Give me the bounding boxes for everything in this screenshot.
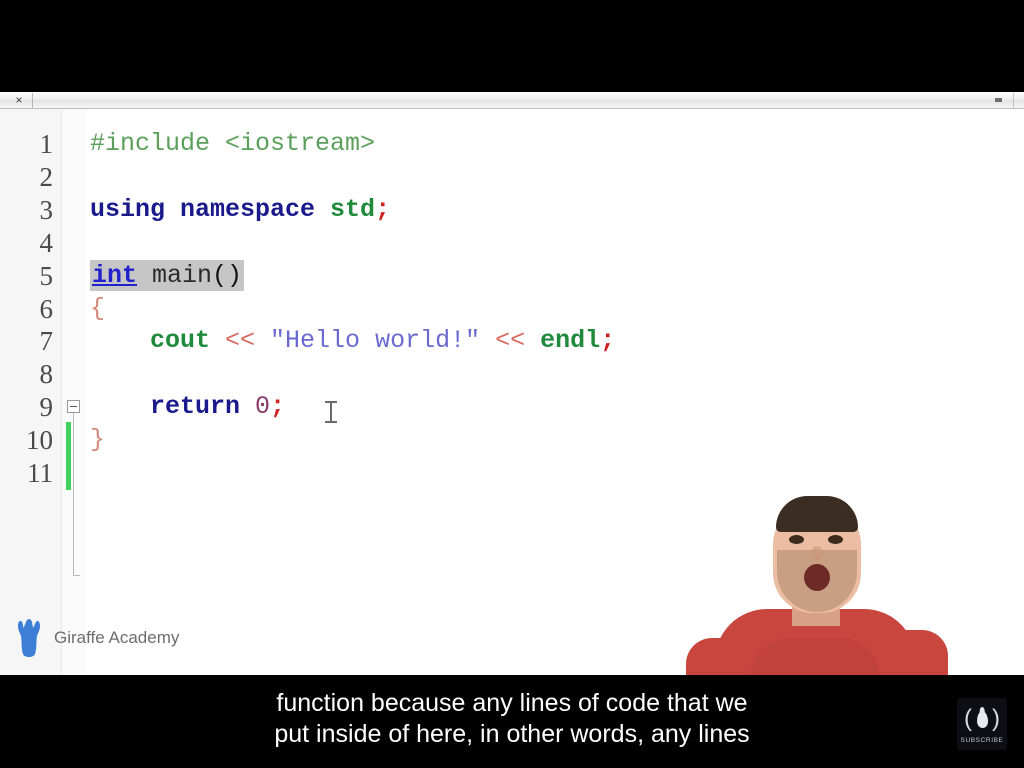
- line-number: 4: [40, 230, 54, 257]
- code-token: }: [90, 425, 105, 454]
- code-token: ;: [270, 392, 285, 421]
- code-token: int: [92, 261, 137, 290]
- code-token: cout: [90, 326, 210, 355]
- code-line[interactable]: using namespace std;: [90, 197, 390, 222]
- code-token: ;: [600, 326, 615, 355]
- paren-left: (: [964, 707, 972, 731]
- sleeve-right: [886, 630, 948, 675]
- giraffe-head-icon: [10, 617, 48, 659]
- minimize-icon[interactable]: [995, 98, 1002, 102]
- selected-code-fragment: int main(): [90, 260, 244, 291]
- code-token: 0: [240, 392, 270, 421]
- mouth: [804, 564, 830, 591]
- letterbox-bottom: [0, 675, 1024, 768]
- line-number: 6: [40, 296, 54, 323]
- eyebrow-right: [824, 526, 846, 531]
- fold-marker-column: [62, 109, 86, 675]
- sleeve-left: [686, 638, 748, 675]
- collapse-fold-icon[interactable]: [67, 400, 80, 413]
- code-token: main: [137, 261, 212, 290]
- flame-icon: ( ): [963, 705, 1001, 735]
- code-editor-window: × 1234567891011 #include <iostream>using…: [0, 92, 1024, 675]
- change-indicator-bar: [66, 422, 71, 490]
- line-number: 1: [40, 131, 54, 158]
- window-title-bar: ×: [0, 92, 1024, 109]
- eyebrow-left: [785, 526, 807, 531]
- code-token: using namespace: [90, 195, 330, 224]
- fold-guide-line: [73, 413, 74, 576]
- paren-right: ): [992, 707, 1000, 731]
- letterbox-top: [0, 0, 1024, 92]
- close-icon[interactable]: ×: [8, 92, 30, 108]
- line-number: 2: [40, 164, 54, 191]
- titlebar-divider: [32, 93, 33, 108]
- video-frame: × 1234567891011 #include <iostream>using…: [0, 0, 1024, 768]
- nose: [811, 546, 823, 560]
- torso-shading: [750, 638, 880, 675]
- code-line[interactable]: #include <iostream>: [90, 131, 375, 156]
- eye-left: [789, 535, 804, 544]
- code-token: "Hello world!": [270, 326, 480, 355]
- code-token: endl: [540, 326, 600, 355]
- code-token: <<: [480, 326, 540, 355]
- channel-watermark: Giraffe Academy: [10, 617, 179, 659]
- code-token: ;: [375, 195, 390, 224]
- line-number: 9: [40, 394, 54, 421]
- titlebar-divider-right: [1013, 93, 1014, 108]
- subscribe-label: SUBSCRIBE: [961, 737, 1004, 744]
- flame-shape: [976, 711, 988, 728]
- code-token: (): [212, 261, 242, 290]
- eye-right: [828, 535, 843, 544]
- presenter-video-overlay: [646, 488, 1024, 675]
- code-token: #include <iostream>: [90, 129, 375, 158]
- line-number-gutter: 1234567891011: [0, 109, 62, 675]
- code-line[interactable]: return 0;: [90, 394, 285, 419]
- code-line[interactable]: }: [90, 427, 105, 452]
- text-ibeam-cursor: [325, 401, 337, 423]
- subscribe-button[interactable]: ( ) SUBSCRIBE: [957, 698, 1007, 750]
- line-number: 5: [40, 263, 54, 290]
- code-token: std: [330, 195, 375, 224]
- watermark-label: Giraffe Academy: [54, 628, 179, 648]
- code-token: {: [90, 294, 105, 323]
- line-number: 11: [27, 460, 53, 487]
- code-line[interactable]: {: [90, 296, 105, 321]
- line-number: 3: [40, 197, 54, 224]
- line-number: 8: [40, 361, 54, 388]
- code-line[interactable]: int main(): [90, 263, 244, 288]
- code-token: <<: [210, 326, 270, 355]
- line-number: 7: [40, 328, 54, 355]
- code-token: return: [90, 392, 240, 421]
- code-line[interactable]: cout << "Hello world!" << endl;: [90, 328, 615, 353]
- line-number: 10: [26, 427, 53, 454]
- fold-guide-foot: [73, 575, 80, 576]
